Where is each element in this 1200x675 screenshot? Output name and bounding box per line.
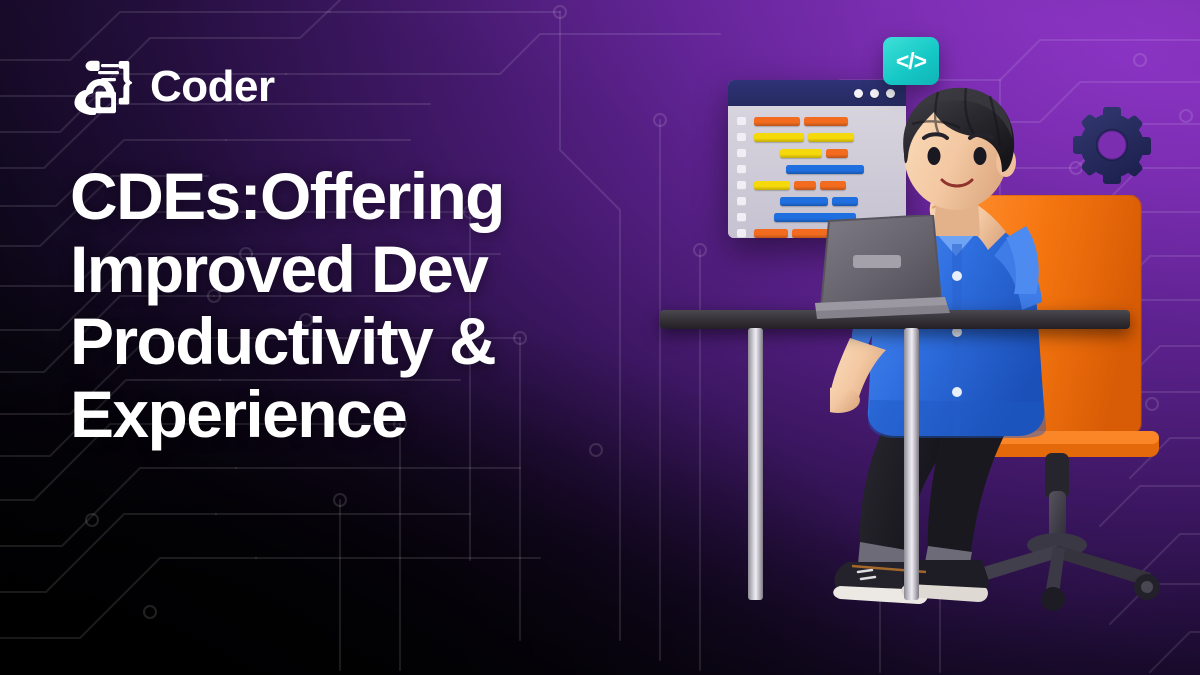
brand-logo[interactable]: Coder xyxy=(70,58,275,116)
hero-illustration: </> xyxy=(640,0,1200,675)
code-gutter-mark xyxy=(728,117,754,126)
hero-banner: Coder CDEs:Offering Improved Dev Product… xyxy=(0,0,1200,675)
page-title: CDEs:Offering Improved Dev Productivity … xyxy=(70,160,690,450)
code-token-blue xyxy=(780,197,828,206)
code-gutter-mark xyxy=(728,149,754,158)
headline-line-2: Improved Dev xyxy=(70,233,690,306)
laptop xyxy=(815,215,950,320)
desk-leg-right xyxy=(904,328,919,600)
standing-desk xyxy=(660,310,1130,600)
code-gutter-mark xyxy=(728,165,754,174)
code-gutter-mark xyxy=(728,213,754,222)
headline-line-3: Productivity & xyxy=(70,305,690,378)
code-gutter-mark xyxy=(728,229,754,238)
code-token-orange xyxy=(754,229,788,238)
coder-logo-icon xyxy=(70,58,136,116)
brand-name: Coder xyxy=(150,65,275,109)
code-token-orange xyxy=(794,181,816,190)
code-gutter-mark xyxy=(728,181,754,190)
code-token-yellow xyxy=(780,149,822,158)
desk-leg-left xyxy=(748,328,763,600)
code-token-yellow xyxy=(754,181,790,190)
headline-line-1: CDEs:Offering xyxy=(70,160,690,233)
code-token-orange xyxy=(754,117,800,126)
code-gutter-mark xyxy=(728,197,754,206)
code-gutter-mark xyxy=(728,133,754,142)
headline-line-4: Experience xyxy=(70,378,690,451)
code-tag-badge-icon: </> xyxy=(883,37,939,85)
code-token-yellow xyxy=(754,133,804,142)
